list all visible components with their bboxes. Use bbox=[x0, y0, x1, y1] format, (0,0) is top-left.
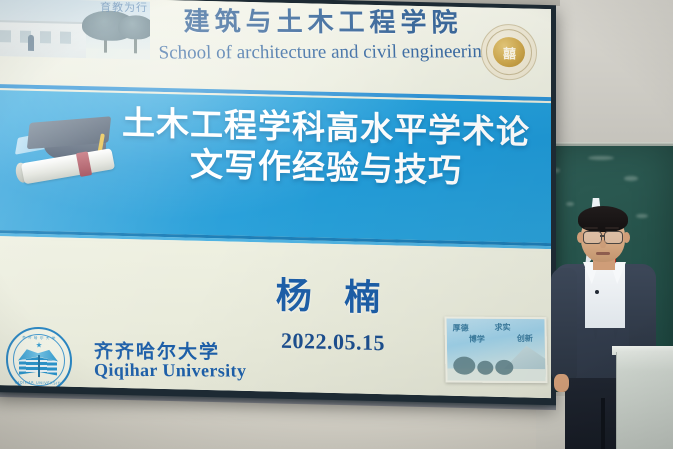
presenter-name: 杨 楠 bbox=[213, 265, 453, 323]
glasses-right-lens bbox=[604, 231, 623, 244]
projector-screen: 育教为行 建筑与土木工程学院 School of architecture an… bbox=[0, 0, 551, 398]
campus-motto-photo: 厚德 博学 求实 创新 bbox=[444, 317, 547, 384]
motto-3: 求实 bbox=[495, 322, 511, 333]
motto-4: 创新 bbox=[517, 333, 533, 344]
logo-arc-bottom: QIQIHAR UNIVERSITY bbox=[8, 380, 70, 385]
university-logo-icon: 齐 齐 哈 尔 大 学 QIQIHAR UNIVERSITY bbox=[6, 326, 72, 394]
presentation-slide: 育教为行 建筑与土木工程学院 School of architecture an… bbox=[0, 0, 551, 398]
classroom-scene: 育教为行 建筑与土木工程学院 School of architecture an… bbox=[0, 0, 673, 449]
campus-photo-header: 育教为行 bbox=[0, 0, 150, 60]
school-name-english: School of architecture and civil enginee… bbox=[150, 41, 500, 65]
slide-header: 育教为行 建筑与土木工程学院 School of architecture an… bbox=[0, 0, 551, 97]
school-emblem-icon: 囍 bbox=[481, 23, 537, 80]
logo-arc-top: 齐 齐 哈 尔 大 学 bbox=[8, 335, 70, 341]
projector-screen-frame: 育教为行 建筑与土木工程学院 School of architecture an… bbox=[0, 0, 556, 405]
header-photo-caption: 育教为行 bbox=[100, 0, 148, 15]
lectern bbox=[616, 352, 673, 449]
slide-title: 土木工程学科高水平学术论 文写作经验与技巧 bbox=[116, 103, 536, 193]
emblem-glyph: 囍 bbox=[482, 25, 536, 80]
university-name-english: Qiqihar University bbox=[94, 360, 247, 382]
left-hand bbox=[554, 374, 569, 392]
school-name-chinese: 建筑与土木工程学院 bbox=[158, 1, 489, 39]
motto-2: 博学 bbox=[469, 334, 485, 345]
motto-1: 厚德 bbox=[453, 323, 469, 334]
left-arm bbox=[551, 268, 577, 380]
